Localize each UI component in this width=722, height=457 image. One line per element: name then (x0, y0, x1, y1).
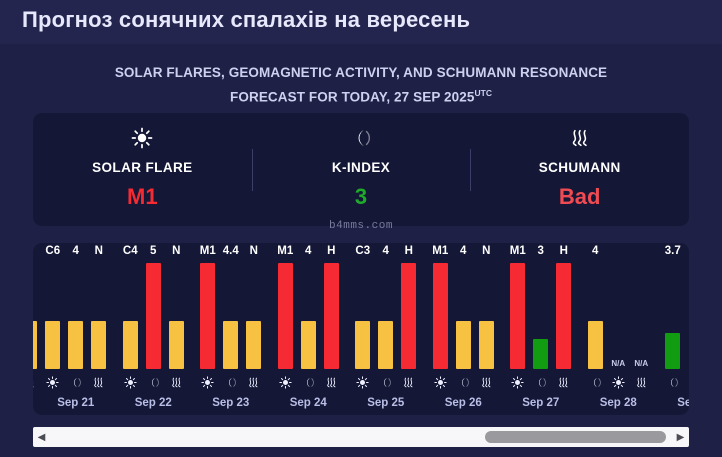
schumann-icon (324, 376, 339, 389)
sun-icon (131, 125, 153, 151)
bar-value-label: 4 (73, 245, 79, 257)
bar-item[interactable]: N (91, 259, 106, 369)
chart-date-label: Sep 25 (347, 397, 425, 409)
bar[interactable] (146, 263, 161, 369)
bar-set: 3.7N/AN/A (657, 259, 689, 369)
moon-icon (665, 376, 680, 389)
bar-item[interactable]: 3 (533, 259, 548, 369)
sun-icon (688, 376, 689, 389)
bar-item[interactable]: 4 (588, 259, 603, 369)
bar[interactable] (123, 321, 138, 369)
bar-value-label: M1 (432, 245, 448, 257)
bar[interactable] (355, 321, 370, 369)
bar-icon-row (657, 376, 689, 389)
chart-group: C64NSep 21 (37, 243, 115, 415)
metric-label: K-INDEX (332, 160, 390, 175)
sun-icon (123, 376, 138, 389)
bar-value-label: 4 (460, 245, 466, 257)
bar-item[interactable]: 4 (456, 259, 471, 369)
moon-icon (533, 376, 548, 389)
scroll-right-arrow-icon[interactable]: ▶ (672, 427, 689, 447)
subtitle-timezone: UTC (474, 88, 491, 98)
sun-icon (278, 376, 293, 389)
bar[interactable] (510, 263, 525, 369)
bar-value-label: 5 (150, 245, 156, 257)
bar-icon-row (115, 376, 193, 389)
bar-item[interactable]: N/A (634, 259, 649, 369)
bar-item[interactable]: H (556, 259, 571, 369)
metric-value: 3 (355, 184, 367, 210)
bar-value-label: C3 (355, 245, 370, 257)
bar[interactable] (278, 263, 293, 369)
bar-value-label: N (250, 245, 258, 257)
bar[interactable] (200, 263, 215, 369)
chart-date-label: Sep 28 (580, 397, 658, 409)
bar-value-label: 3 (538, 245, 544, 257)
sun-icon (200, 376, 215, 389)
schumann-icon (556, 376, 571, 389)
bar-value-label: N (172, 245, 180, 257)
metric-label: SOLAR FLARE (92, 160, 192, 175)
subtitle-line-2-text: FORECAST FOR TODAY, 27 SEP 2025 (230, 90, 474, 105)
bar-value-label: 3.7 (665, 245, 681, 257)
bar-icon-row (192, 376, 270, 389)
bar-item[interactable]: C4 (123, 259, 138, 369)
bar-value-label: 4 (305, 245, 311, 257)
bar[interactable] (246, 321, 261, 369)
undefined (33, 376, 37, 389)
bar-item[interactable]: 5 (146, 259, 161, 369)
sun-icon (611, 376, 626, 389)
schumann-icon (634, 376, 649, 389)
bar[interactable] (68, 321, 83, 369)
bar-value-label: H (327, 245, 335, 257)
schumann-icon (246, 376, 261, 389)
moon-icon (301, 376, 316, 389)
chart-group: M14HSep 24 (270, 243, 348, 415)
bar-value-label: 4.4 (223, 245, 239, 257)
chart-group: M13HSep 27 (502, 243, 580, 415)
metric-k-index: K-INDEX3 (252, 113, 471, 226)
chart-group: 3.7N/AN/ASep 29 (657, 243, 689, 415)
bar-icon-row (502, 376, 580, 389)
bar-item[interactable]: 4 (68, 259, 83, 369)
horizontal-scrollbar[interactable]: ◀ ▶ (33, 427, 689, 447)
scrollbar-thumb[interactable] (485, 431, 665, 443)
schumann-icon (169, 376, 184, 389)
bar-item[interactable]: N (246, 259, 261, 369)
sun-icon (510, 376, 525, 389)
chart-date-label: Sep 29 (657, 397, 689, 409)
moon-icon (68, 376, 83, 389)
bar[interactable] (665, 333, 680, 369)
bar-set: M14N (425, 259, 503, 369)
page-title: Прогноз сонячних спалахів на вересень (22, 7, 470, 33)
chart-date-label: Sep 27 (502, 397, 580, 409)
bar-item[interactable]: M1 (200, 259, 215, 369)
chart-date-label: Sep 24 (270, 397, 348, 409)
forecast-chart-panel[interactable]: C64NSep 21C45NSep 22M14.4NSep 23M14HSep … (33, 243, 689, 415)
bar-icon-row (37, 376, 115, 389)
bar-item[interactable]: 4 (378, 259, 393, 369)
bar[interactable] (223, 321, 238, 369)
bar-value-label: 4 (592, 245, 598, 257)
bar-set: 4N/AN/A (580, 259, 658, 369)
bar-item[interactable]: 3.7 (665, 259, 680, 369)
metric-label: SCHUMANN (539, 160, 621, 175)
chart-date-label: Sep 26 (425, 397, 503, 409)
chart-scroll-content: C64NSep 21C45NSep 22M14.4NSep 23M14HSep … (33, 243, 689, 415)
bar-icon-row (270, 376, 348, 389)
bar[interactable] (533, 339, 548, 369)
bar[interactable] (169, 321, 184, 369)
moon-icon (350, 125, 372, 151)
bar-item[interactable]: C3 (355, 259, 370, 369)
subtitle-line-2: FORECAST FOR TODAY, 27 SEP 2025UTC (0, 83, 722, 108)
schumann-icon (569, 125, 591, 151)
bar-item[interactable]: H (324, 259, 339, 369)
chart-date-label: Sep 21 (37, 397, 115, 409)
bar-value-label: N/A (611, 359, 625, 368)
bar-value-label: M1 (200, 245, 216, 257)
chart-group: M14NSep 26 (425, 243, 503, 415)
bar[interactable] (301, 321, 316, 369)
bar[interactable] (378, 321, 393, 369)
moon-icon (456, 376, 471, 389)
bar-item[interactable]: C6 (45, 259, 60, 369)
bar-set: C45N (115, 259, 193, 369)
bar-item[interactable]: N (479, 259, 494, 369)
bar-item[interactable] (33, 259, 37, 369)
bar-set: M13H (502, 259, 580, 369)
summary-card: SOLAR FLAREM1K-INDEX3SCHUMANNBad (33, 113, 689, 226)
bar-value-label: N (95, 245, 103, 257)
bar-value-label: H (405, 245, 413, 257)
bar-set: M14H (270, 259, 348, 369)
bar-item[interactable]: 4.4 (223, 259, 238, 369)
bar-icon-row (347, 376, 425, 389)
schumann-icon (479, 376, 494, 389)
bar-value-label: N (482, 245, 490, 257)
bar-value-label: 4 (383, 245, 389, 257)
metric-value: M1 (127, 184, 158, 210)
metric-schumann: SCHUMANNBad (470, 113, 689, 226)
bar-value-label: C6 (45, 245, 60, 257)
chart-group: 4N/AN/ASep 28 (580, 243, 658, 415)
bar-value-label: C4 (123, 245, 138, 257)
bar-set: C34H (347, 259, 425, 369)
bar-item[interactable]: H (401, 259, 416, 369)
summary-metrics: SOLAR FLAREM1K-INDEX3SCHUMANNBad (33, 113, 689, 226)
bar-item[interactable]: N/A (611, 259, 626, 369)
bar[interactable] (91, 321, 106, 369)
chart-date-label: Sep 22 (115, 397, 193, 409)
sun-icon (45, 376, 60, 389)
bar-value-label: N/A (634, 359, 648, 368)
bar[interactable] (556, 263, 571, 369)
bar-item[interactable]: 4 (301, 259, 316, 369)
schumann-icon (401, 376, 416, 389)
moon-icon (223, 376, 238, 389)
bar[interactable] (33, 321, 37, 369)
titlebar: Прогноз сонячних спалахів на вересень (0, 0, 722, 44)
bar[interactable] (588, 321, 603, 369)
bar[interactable] (324, 263, 339, 369)
solar-forecast-widget: Прогноз сонячних спалахів на вересень SO… (0, 0, 722, 457)
bar[interactable] (479, 321, 494, 369)
forecast-subtitle: SOLAR FLARES, GEOMAGNETIC ACTIVITY, AND … (0, 62, 722, 108)
bar-item[interactable]: M1 (510, 259, 525, 369)
scrollbar-track[interactable] (50, 427, 672, 447)
bar-set: C64N (37, 259, 115, 369)
moon-icon (378, 376, 393, 389)
chart-group: C45NSep 22 (115, 243, 193, 415)
bar-icon-row (580, 376, 658, 389)
bar-item[interactable]: M1 (278, 259, 293, 369)
bar-value-label: M1 (510, 245, 526, 257)
chart-group: C34HSep 25 (347, 243, 425, 415)
scroll-left-arrow-icon[interactable]: ◀ (33, 427, 50, 447)
moon-icon (588, 376, 603, 389)
sun-icon (433, 376, 448, 389)
bar[interactable] (401, 263, 416, 369)
moon-icon (146, 376, 161, 389)
chart-date-label: Sep 23 (192, 397, 270, 409)
bar[interactable] (456, 321, 471, 369)
sun-icon (355, 376, 370, 389)
metric-value: Bad (559, 184, 601, 210)
bar-icon-row (425, 376, 503, 389)
bar-value-label: M1 (277, 245, 293, 257)
bar-item[interactable]: M1 (433, 259, 448, 369)
bar-set: M14.4N (192, 259, 270, 369)
chart-group: M14.4NSep 23 (192, 243, 270, 415)
metric-solar-flare: SOLAR FLAREM1 (33, 113, 252, 226)
schumann-icon (91, 376, 106, 389)
watermark: b4mms.com (0, 220, 722, 232)
bar-item[interactable]: N (169, 259, 184, 369)
subtitle-line-1: SOLAR FLARES, GEOMAGNETIC ACTIVITY, AND … (0, 62, 722, 83)
bar-value-label: H (560, 245, 568, 257)
bar[interactable] (45, 321, 60, 369)
chart-bar-groups: C64NSep 21C45NSep 22M14.4NSep 23M14HSep … (33, 243, 689, 415)
bar[interactable] (433, 263, 448, 369)
bar-item[interactable]: N/A (688, 259, 689, 369)
